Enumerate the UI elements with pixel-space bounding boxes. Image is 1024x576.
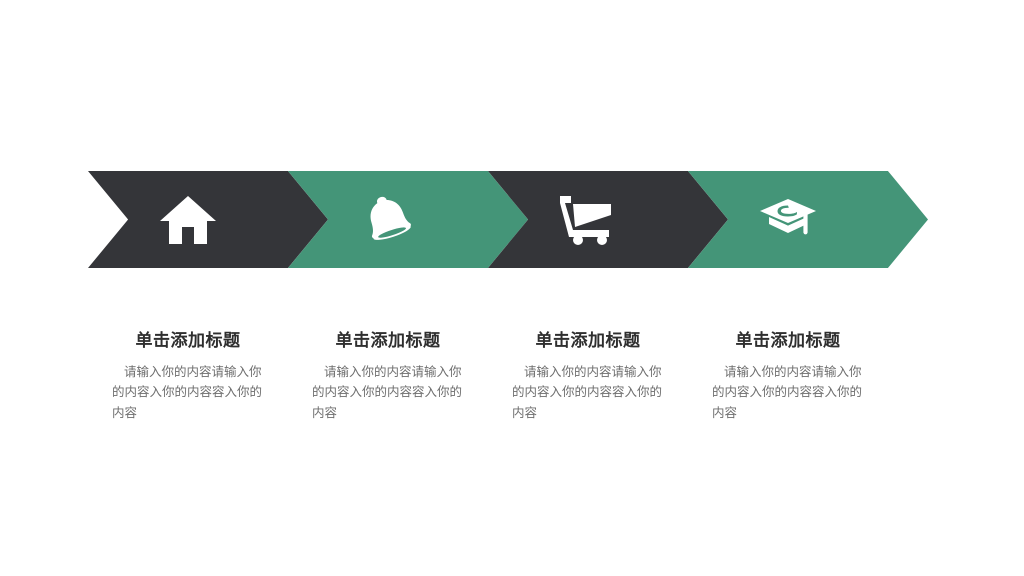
process-chevron-band <box>88 171 930 268</box>
caption-row: 单击添加标题 请输入你的内容请输入你的内容入你的内容容入你的内容 单击添加标题 … <box>88 330 933 450</box>
chevron-step-1[interactable] <box>88 171 328 268</box>
caption-body-3: 请输入你的内容请输入你的内容入你的内容容入你的内容 <box>488 362 688 423</box>
caption-body-1: 请输入你的内容请输入你的内容入你的内容容入你的内容 <box>88 362 288 423</box>
caption-title-4: 单击添加标题 <box>688 330 888 352</box>
caption-column-2: 单击添加标题 请输入你的内容请输入你的内容入你的内容容入你的内容 <box>288 330 488 423</box>
caption-title-3: 单击添加标题 <box>488 330 688 352</box>
caption-column-4: 单击添加标题 请输入你的内容请输入你的内容入你的内容容入你的内容 <box>688 330 888 423</box>
caption-body-4: 请输入你的内容请输入你的内容入你的内容容入你的内容 <box>688 362 888 423</box>
home-icon <box>88 171 288 268</box>
caption-column-1: 单击添加标题 请输入你的内容请输入你的内容入你的内容容入你的内容 <box>88 330 288 423</box>
caption-title-1: 单击添加标题 <box>88 330 288 352</box>
caption-title-2: 单击添加标题 <box>288 330 488 352</box>
caption-body-2: 请输入你的内容请输入你的内容入你的内容容入你的内容 <box>288 362 488 423</box>
caption-column-3: 单击添加标题 请输入你的内容请输入你的内容入你的内容容入你的内容 <box>488 330 688 423</box>
slide-canvas: 单击添加标题 请输入你的内容请输入你的内容入你的内容容入你的内容 单击添加标题 … <box>0 0 1024 576</box>
